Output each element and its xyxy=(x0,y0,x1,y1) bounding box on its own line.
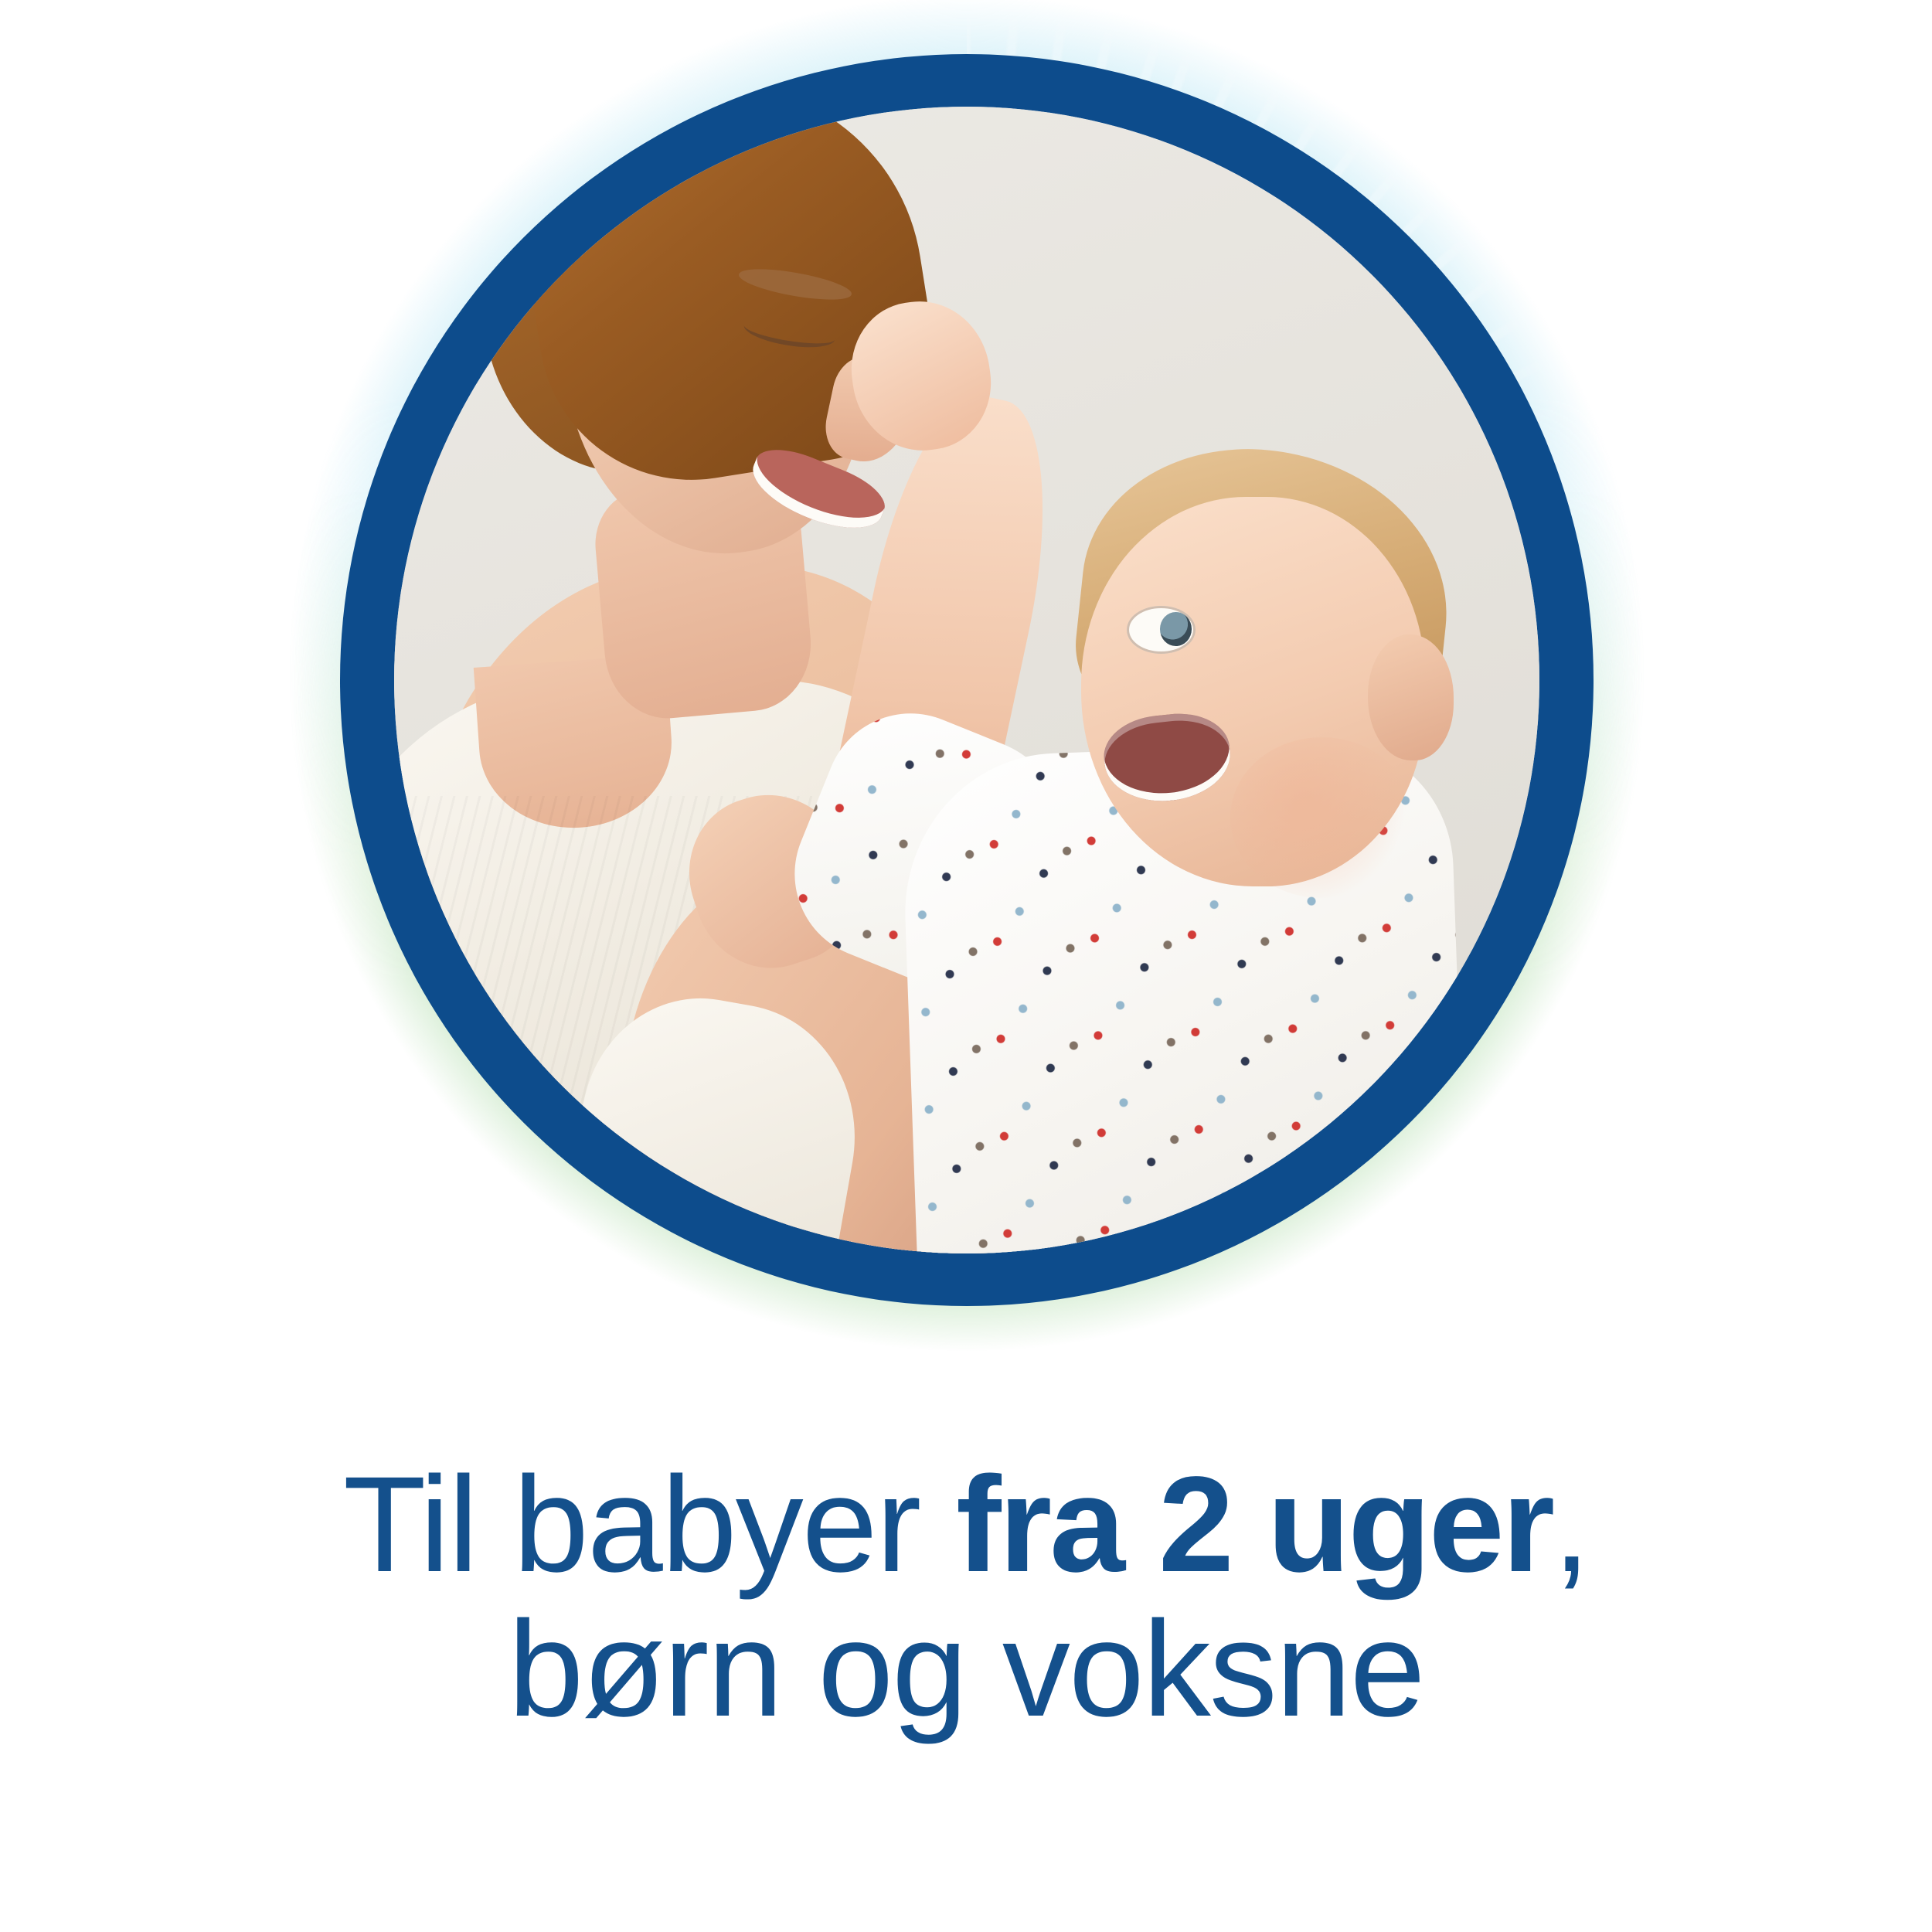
photo-scene xyxy=(394,107,1539,1253)
caption-line-1: Til babyer fra 2 uger, xyxy=(0,1453,1932,1597)
caption-line-1-comma: , xyxy=(1553,1449,1589,1600)
baby-ear xyxy=(1368,634,1454,760)
promo-caption: Til babyer fra 2 uger, børn og voksne xyxy=(0,1453,1932,1741)
baby-eye xyxy=(1127,606,1196,654)
caption-line-2: børn og voksne xyxy=(0,1597,1932,1742)
caption-line-1-regular: Til babyer xyxy=(343,1449,956,1600)
caption-line-1-bold: fra 2 uger xyxy=(956,1449,1553,1600)
photo-ring xyxy=(340,54,1594,1306)
promo-card: Til babyer fra 2 uger, børn og voksne xyxy=(0,0,1932,1932)
mother-and-baby-photo xyxy=(394,107,1539,1253)
baby-cheek xyxy=(1230,737,1413,898)
